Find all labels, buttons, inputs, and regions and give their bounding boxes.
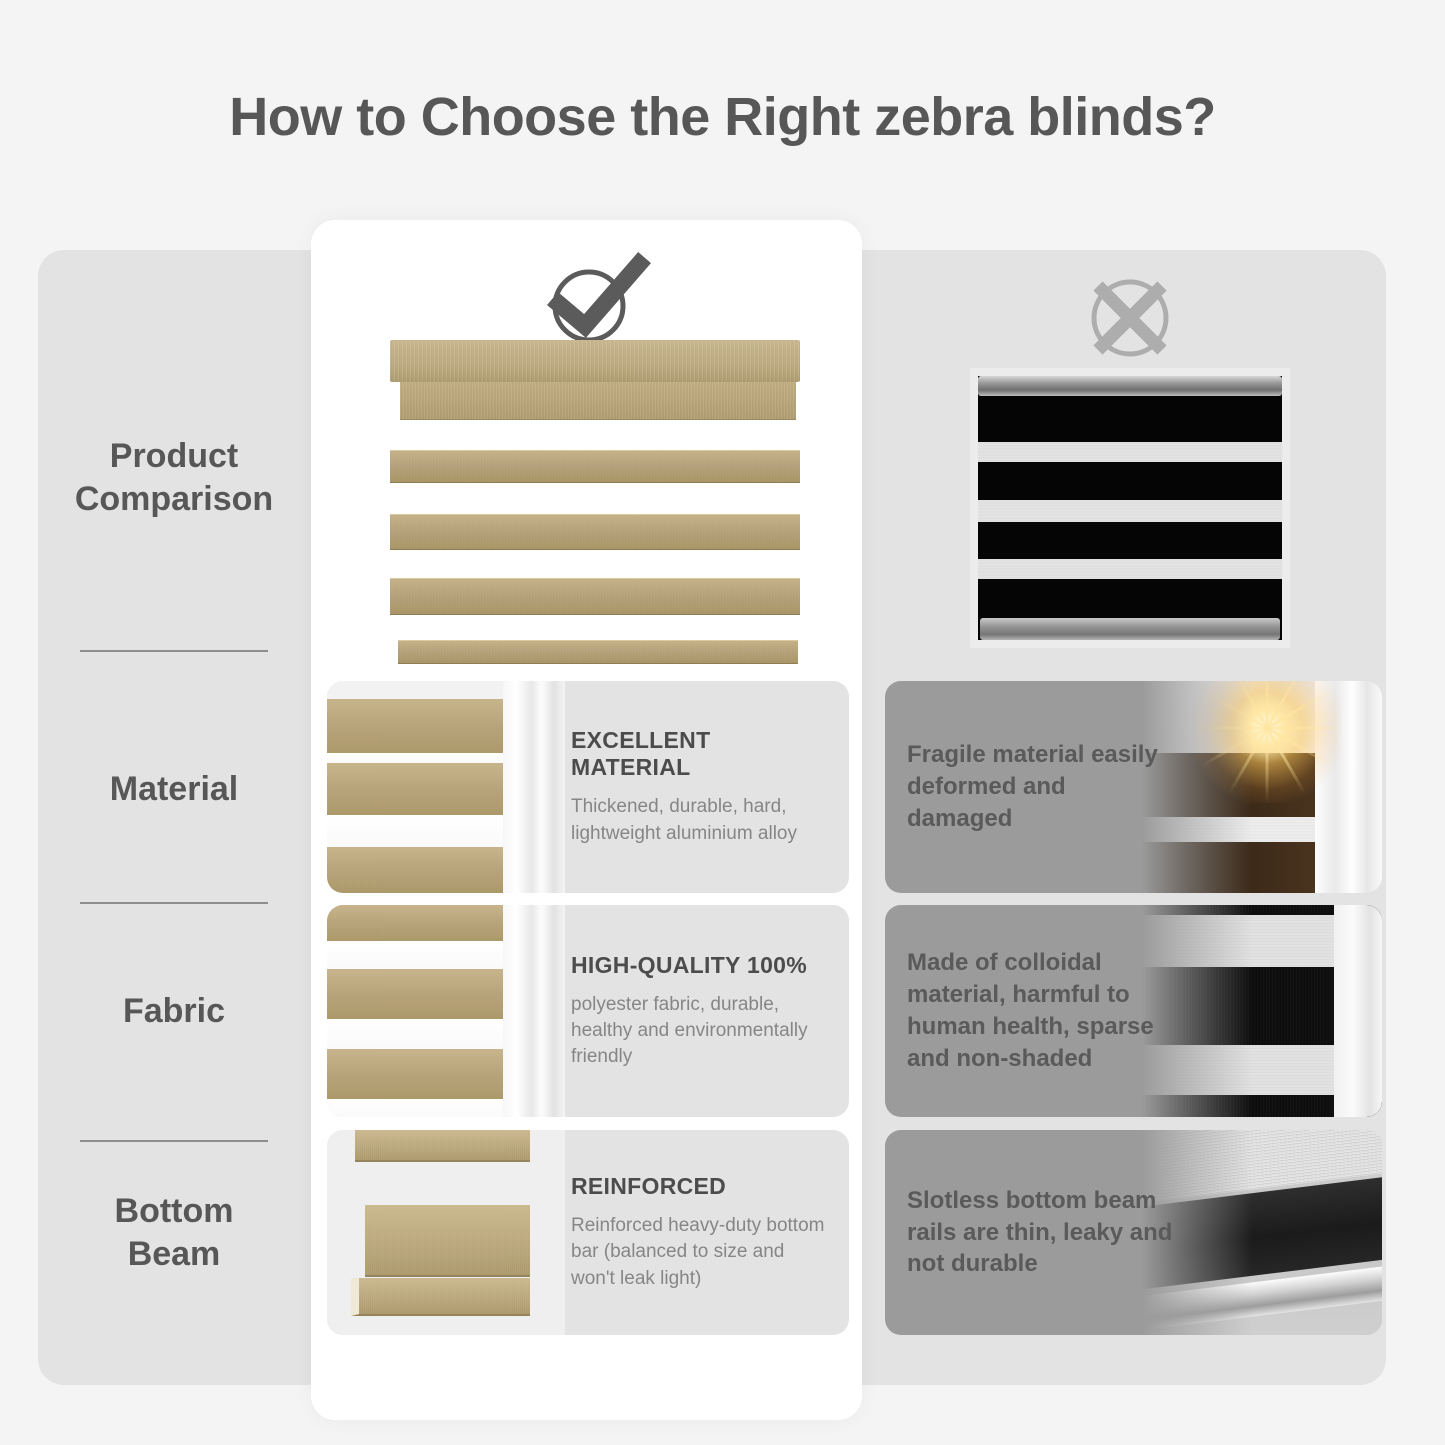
page-title: How to Choose the Right zebra blinds? [0,86,1445,148]
good-material-text: EXCELLENT MATERIAL Thickened, durable, h… [571,681,849,893]
label-divider-3 [80,1140,268,1142]
bad-bottom-beam-text: Slotless bottom beam rails are thin, lea… [907,1130,1177,1335]
row-label-column: Product Comparison Material Fabric Botto… [38,250,310,1385]
blind-light-stripe [978,442,1282,462]
feature-title: HIGH-QUALITY 100% [571,952,829,979]
feature-desc: polyester fabric, durable, healthy and e… [571,992,829,1071]
row-label-material: Material [38,768,310,811]
good-feature-card-bottom-beam: REINFORCED Reinforced heavy-duty bottom … [327,1130,849,1335]
bad-feature-card-bottom-beam: Slotless bottom beam rails are thin, lea… [885,1130,1382,1335]
blind-slat [390,578,800,615]
window-frame [503,681,565,893]
row-label-line2: Beam [38,1233,310,1276]
row-label-line2: Comparison [38,478,310,521]
row-label-product-comparison: Product Comparison [38,435,310,520]
good-hero-image [390,340,800,665]
feature-title: Made of colloidal material, harmful to h… [907,947,1177,1075]
blind-slat [390,514,800,550]
row-label-line1: Product [38,435,310,478]
good-feature-card-fabric: HIGH-QUALITY 100% polyester fabric, dura… [327,905,849,1117]
blind-light-stripe [978,500,1282,522]
blind-bottom-beam [398,640,798,664]
good-fabric-photo [327,905,565,1117]
good-bottom-beam-text: REINFORCED Reinforced heavy-duty bottom … [571,1130,849,1335]
black-fabric-image [1142,905,1382,1117]
feature-desc: Reinforced heavy-duty bottom bar (balanc… [571,1213,829,1292]
black-blind-headrail [978,376,1282,396]
bad-feature-card-fabric: Made of colloidal material, harmful to h… [885,905,1382,1117]
row-label-fabric: Fabric [38,990,310,1033]
window-frame [1315,681,1382,893]
blind-headrail [390,340,800,382]
label-divider-2 [80,902,268,904]
label-divider-1 [80,650,268,652]
blind-light-stripe [978,559,1282,579]
black-blind-body [978,376,1282,640]
thin-bottom-rail [1142,1264,1382,1331]
sun-flare-icon [1192,681,1342,803]
blind-top-slat [400,382,796,420]
row-label-line1: Material [38,768,310,811]
good-fabric-text: HIGH-QUALITY 100% polyester fabric, dura… [571,905,849,1117]
feature-title: REINFORCED [571,1173,829,1200]
feature-desc: Thickened, durable, hard, lightweight al… [571,794,829,846]
bad-feature-card-material: Fragile material easily deformed and dam… [885,681,1382,893]
feature-title: EXCELLENT MATERIAL [571,727,829,781]
cross-circle-icon [1078,268,1182,368]
bad-fabric-text: Made of colloidal material, harmful to h… [907,905,1177,1117]
feature-title: Slotless bottom beam rails are thin, lea… [907,1185,1177,1281]
bad-material-text: Fragile material easily deformed and dam… [907,681,1177,893]
bad-hero-image [970,368,1290,648]
sun-leak-image [1142,681,1382,893]
bad-fabric-photo [1142,905,1382,1117]
row-label-line1: Fabric [38,990,310,1033]
dark-blind-body [1142,1175,1382,1290]
good-bottom-beam-photo [327,1130,565,1335]
check-circle-icon [535,250,655,350]
slotless-rail-image [1142,1130,1382,1335]
blind-slat [390,450,800,483]
bad-bottom-beam-photo [1142,1130,1382,1335]
good-feature-card-material: EXCELLENT MATERIAL Thickened, durable, h… [327,681,849,893]
black-blind-bottom-rail [980,618,1280,640]
row-label-line1: Bottom [38,1190,310,1233]
good-material-photo [327,681,565,893]
row-label-bottom-beam: Bottom Beam [38,1190,310,1275]
feature-title: Fragile material easily deformed and dam… [907,739,1177,835]
bad-material-photo [1142,681,1382,893]
window-frame [503,905,565,1117]
